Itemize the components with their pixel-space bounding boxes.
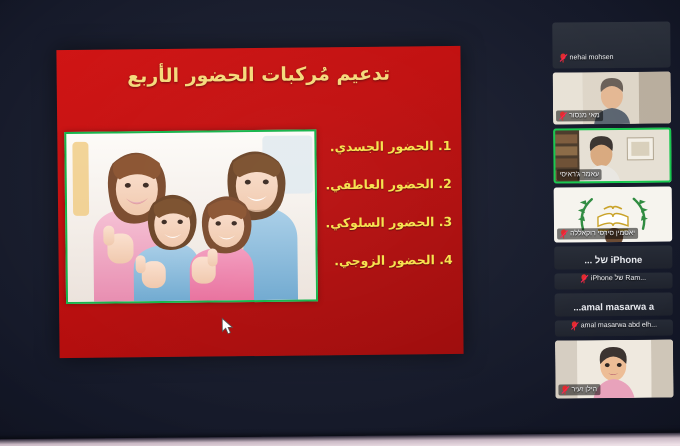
participant-tile[interactable]: יאסמין סירסי רוקאללה [554,187,672,243]
participant-name-bar: amal masarwa abd elh... [555,320,673,332]
list-item: 1. الحضور الجسدي. [323,138,451,154]
mic-muted-icon [560,229,567,238]
participant-tile[interactable]: הילן זעיר [555,340,674,399]
screen-photo: تدعيم مُركبات الحضور الأربع [0,0,680,446]
slide-title: تدعيم مُركبات الحضور الأربع [57,62,461,88]
mic-muted-icon [561,385,568,394]
participant-name: ‎iPhone‎ של Ram... [591,274,646,283]
mic-muted-icon [571,321,578,330]
participant-name: הילן זעיר [571,385,597,394]
list-item: 2. الحضور العاطفي. [324,176,452,192]
participant-filmstrip[interactable]: nehai mohsen מאי מנסור [552,21,680,426]
participant-name-bar: עאמר ג'ראיסי [557,169,603,180]
list-item: 3. الحضور السلوكي. [324,214,452,230]
mic-muted-icon [560,53,567,62]
participant-tile[interactable]: ‎iPhone‎ של ... [554,246,672,270]
participant-name-bar: יאסמין סירסי רוקאללה [557,228,638,240]
participant-tile[interactable]: מאי מנסור [553,72,671,125]
list-item: 4. الحضور الزوجي. [325,252,453,268]
participant-name-bar: nehai mohsen [557,52,617,64]
mouse-pointer-icon [221,317,234,335]
participant-name-bar: מאי מנסור [556,110,603,121]
participant-name: amal masarwa a... [555,293,673,317]
mic-muted-icon [559,111,566,120]
participant-name: יאסמין סירסי רוקאללה [570,229,635,239]
participant-tile[interactable]: nehai mohsen [552,22,670,69]
slide-bullet-list: 1. الحضور الجسدي. 2. الحضور العاطفي. 3. … [323,138,453,291]
participant-name-bar: ‎iPhone‎ של Ram... [554,273,672,285]
participant-name: nehai mohsen [570,53,614,62]
participant-tile[interactable]: ‎iPhone‎ של Ram... [554,273,672,290]
monitor-bezel [0,433,680,446]
participant-name-bar: הילן זעיר [558,384,600,395]
mic-muted-icon [581,274,588,283]
shared-presentation-slide[interactable]: تدعيم مُركبات الحضور الأربع [56,46,463,358]
participant-name: ‎iPhone‎ של ... [554,246,672,270]
participant-tile[interactable]: amal masarwa abd elh... [555,320,673,337]
family-thumbs-up-photo [64,129,318,304]
participant-tile-active-speaker[interactable]: עאמר ג'ראיסי [553,128,671,184]
participant-name: עאמר ג'ראיסי [560,170,600,179]
participant-tile[interactable]: amal masarwa a... [555,293,673,317]
participant-name: מאי מנסור [569,111,600,120]
participant-name: amal masarwa abd elh... [581,321,657,331]
